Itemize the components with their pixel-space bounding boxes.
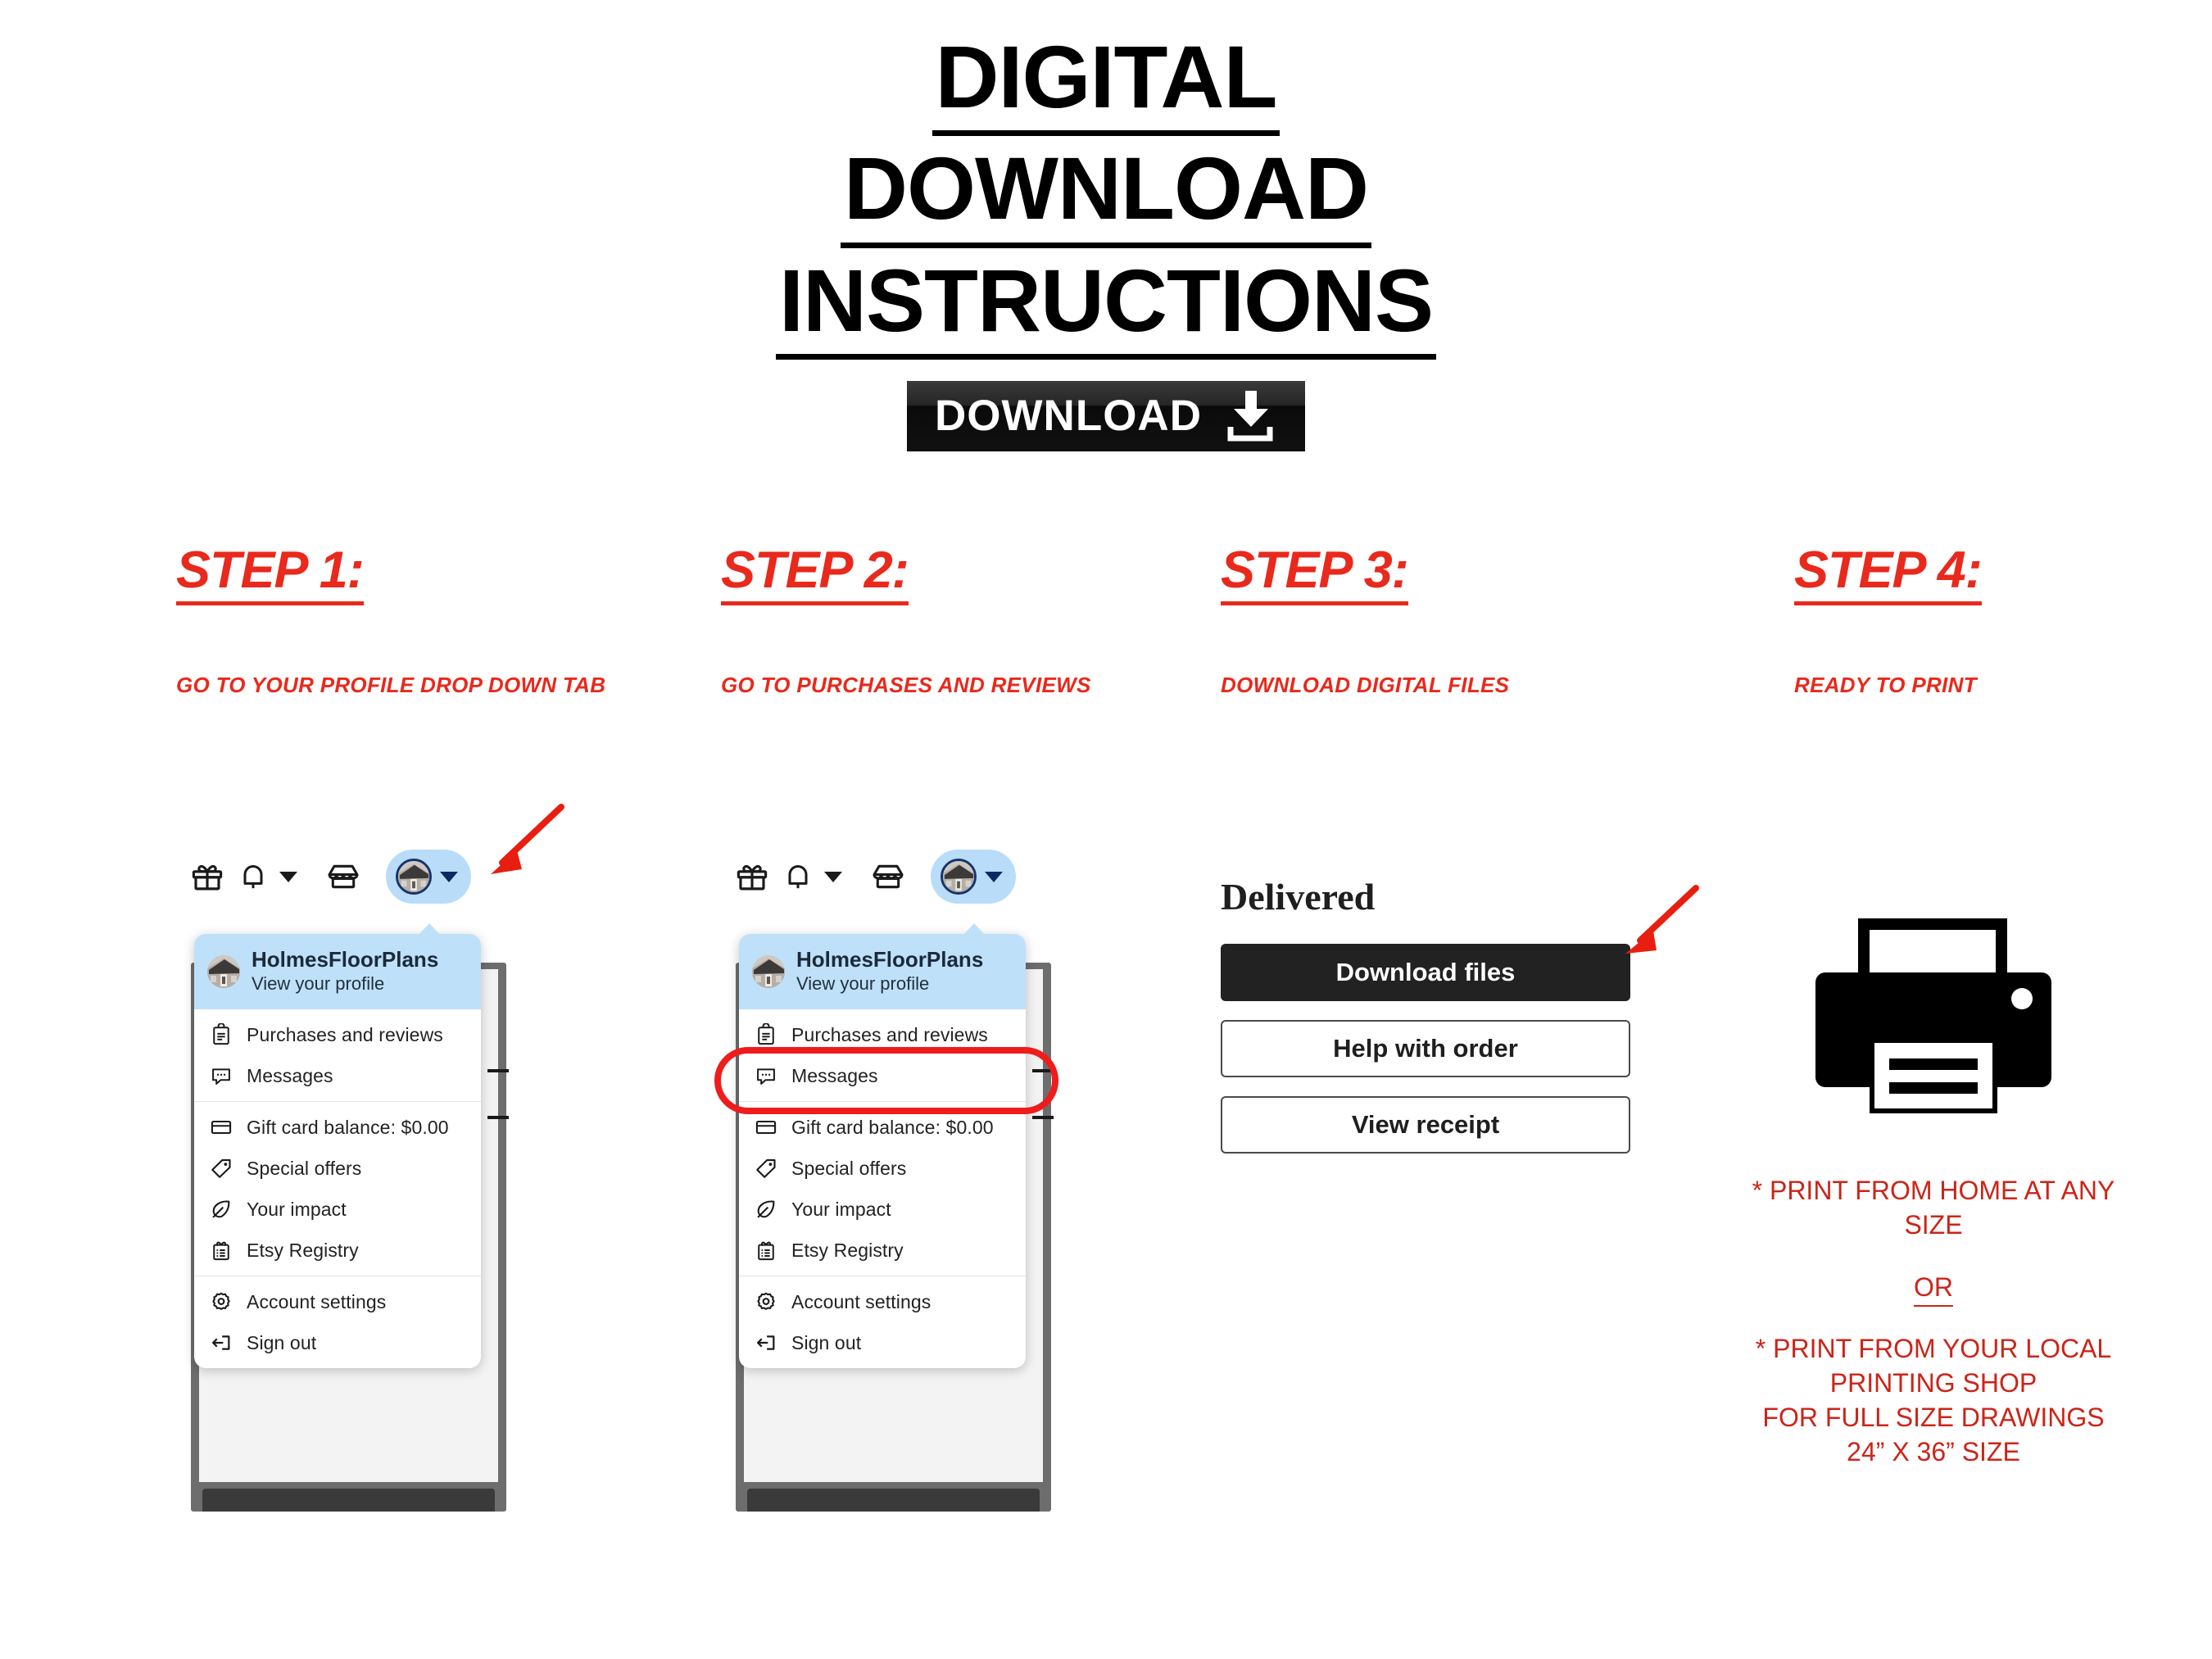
gift-icon[interactable] [184, 854, 230, 900]
dropdown-pointer [962, 923, 986, 936]
print-note-line-2: * PRINT FROM YOUR LOCAL PRINTING SHOP FO… [1737, 1331, 2130, 1470]
gift-icon[interactable] [729, 854, 775, 900]
bell-icon[interactable] [230, 854, 276, 900]
step-3-title: STEP 3: [1221, 541, 1408, 605]
avatar [207, 955, 240, 988]
dropdown-pointer [417, 923, 442, 936]
clipboard-icon [754, 1022, 778, 1047]
view-profile-link[interactable]: View your profile [796, 972, 983, 996]
avatar [752, 955, 785, 988]
title-line-2: DOWNLOAD [841, 136, 1371, 247]
credit-card-icon [209, 1115, 233, 1140]
menu-item-label: Purchases and reviews [791, 1024, 988, 1046]
chevron-down-icon[interactable] [440, 872, 458, 882]
step-3-column: STEP 3: DOWNLOAD DIGITAL FILES [1221, 541, 1509, 698]
page-title: DIGITAL [0, 25, 2212, 136]
menu-group-1: Purchases and reviews Messages [739, 1009, 1026, 1101]
menu-item-label: Purchases and reviews [247, 1024, 443, 1046]
download-files-button[interactable]: Download files [1221, 944, 1630, 1001]
menu-item-special-offers[interactable]: Special offers [739, 1148, 1026, 1189]
menu-account-header[interactable]: HolmesFloorPlans View your profile [194, 934, 481, 1009]
menu-item-account-settings[interactable]: Account settings [739, 1281, 1026, 1322]
etsy-navbar [729, 844, 1057, 909]
menu-item-messages[interactable]: Messages [739, 1055, 1026, 1096]
bell-icon[interactable] [775, 854, 821, 900]
download-badge[interactable]: DOWNLOAD [907, 381, 1305, 451]
step-3-subtitle: DOWNLOAD DIGITAL FILES [1221, 673, 1509, 698]
step-4-column: STEP 4: READY TO PRINT [1794, 541, 1982, 698]
print-note-line-1: * PRINT FROM HOME AT ANY SIZE [1737, 1173, 2130, 1242]
price-tag-icon [754, 1156, 778, 1181]
bg-fragment [487, 1116, 509, 1119]
credit-card-icon [754, 1115, 778, 1140]
print-note-or: OR [1914, 1270, 1953, 1306]
menu-item-your-impact[interactable]: Your impact [194, 1189, 481, 1230]
leaf-icon [754, 1197, 778, 1222]
sign-out-icon [754, 1330, 778, 1355]
chat-bubble-icon [209, 1063, 233, 1088]
menu-item-label: Special offers [247, 1158, 361, 1180]
profile-menu-button[interactable] [386, 850, 471, 904]
chevron-down-icon[interactable] [824, 872, 842, 882]
profile-dropdown-menu: HolmesFloorPlans View your profile Purch… [194, 934, 481, 1368]
title-line-3: INSTRUCTIONS [776, 248, 1436, 360]
account-name: HolmesFloorPlans [796, 948, 983, 972]
leaf-icon [209, 1197, 233, 1222]
menu-item-account-settings[interactable]: Account settings [194, 1281, 481, 1322]
avatar [941, 859, 977, 895]
menu-account-header[interactable]: HolmesFloorPlans View your profile [739, 934, 1026, 1009]
menu-item-your-impact[interactable]: Your impact [739, 1189, 1026, 1230]
step-1-title: STEP 1: [176, 541, 364, 605]
menu-item-label: Etsy Registry [247, 1240, 359, 1262]
step-2-title: STEP 2: [721, 541, 909, 605]
menu-item-special-offers[interactable]: Special offers [194, 1148, 481, 1189]
title-line-1: DIGITAL [932, 25, 1281, 136]
menu-item-etsy-registry[interactable]: Etsy Registry [194, 1230, 481, 1271]
view-receipt-button[interactable]: View receipt [1221, 1096, 1630, 1154]
menu-item-label: Your impact [247, 1199, 347, 1221]
etsy-navbar [184, 844, 512, 909]
view-profile-link[interactable]: View your profile [252, 972, 438, 996]
printer-icon [1811, 913, 2056, 1118]
step-1-subtitle: GO TO YOUR PROFILE DROP DOWN TAB [176, 673, 605, 698]
menu-item-gift-card-balance[interactable]: Gift card balance: $0.00 [194, 1107, 481, 1148]
gear-icon [754, 1290, 778, 1314]
menu-item-sign-out[interactable]: Sign out [739, 1322, 1026, 1363]
account-name: HolmesFloorPlans [252, 948, 438, 972]
menu-group-2: Gift card balance: $0.00 Special offers [194, 1101, 481, 1276]
step-2-screenshot: HolmesFloorPlans View your profile Purch… [729, 844, 1057, 1499]
download-arrow-icon [1220, 389, 1281, 442]
menu-group-2: Gift card balance: $0.00 Special offers [739, 1101, 1026, 1276]
sign-out-icon [209, 1330, 233, 1355]
step-1-screenshot: HolmesFloorPlans View your profile Purch… [184, 844, 512, 1499]
instruction-sheet: DIGITAL DOWNLOAD INSTRUCTIONS DOWNLOAD S… [0, 0, 2212, 1659]
step-4-subtitle: READY TO PRINT [1794, 673, 1982, 698]
menu-item-label: Sign out [247, 1332, 316, 1354]
menu-group-1: Purchases and reviews Messages [194, 1009, 481, 1101]
chevron-down-icon[interactable] [985, 872, 1003, 882]
menu-item-etsy-registry[interactable]: Etsy Registry [739, 1230, 1026, 1271]
bg-fragment [487, 1069, 509, 1072]
menu-item-label: Account settings [791, 1291, 931, 1313]
menu-item-label: Account settings [247, 1291, 386, 1313]
menu-item-gift-card-balance[interactable]: Gift card balance: $0.00 [739, 1107, 1026, 1148]
avatar [396, 859, 432, 895]
step-1-column: STEP 1: GO TO YOUR PROFILE DROP DOWN TAB [176, 541, 605, 698]
menu-item-label: Sign out [791, 1332, 861, 1354]
order-status-label: Delivered [1221, 875, 1375, 918]
registry-gift-icon [754, 1238, 778, 1262]
menu-item-label: Your impact [791, 1199, 891, 1221]
shop-icon[interactable] [865, 854, 911, 900]
menu-group-3: Account settings Sign out [194, 1276, 481, 1368]
page-header: DIGITAL DOWNLOAD INSTRUCTIONS DOWNLOAD [0, 25, 2212, 451]
clipboard-icon [209, 1022, 233, 1047]
chat-bubble-icon [754, 1063, 778, 1088]
profile-dropdown-menu: HolmesFloorPlans View your profile Purch… [739, 934, 1026, 1368]
step-2-column: STEP 2: GO TO PURCHASES AND REVIEWS [721, 541, 1091, 698]
print-notes: * PRINT FROM HOME AT ANY SIZE OR * PRINT… [1737, 1173, 2130, 1470]
menu-item-purchases-and-reviews[interactable]: Purchases and reviews [739, 1014, 1026, 1055]
download-badge-label: DOWNLOAD [935, 391, 1202, 441]
shop-icon[interactable] [320, 854, 366, 900]
bg-fragment [1032, 1069, 1054, 1072]
step-2-subtitle: GO TO PURCHASES AND REVIEWS [721, 673, 1091, 698]
menu-item-label: Gift card balance: $0.00 [247, 1117, 449, 1139]
bg-fragment [1032, 1116, 1054, 1119]
menu-item-label: Messages [791, 1065, 878, 1087]
chevron-down-icon[interactable] [279, 872, 297, 882]
help-with-order-button[interactable]: Help with order [1221, 1020, 1630, 1077]
menu-item-label: Etsy Registry [791, 1240, 904, 1262]
step-4-title: STEP 4: [1794, 541, 1982, 605]
registry-gift-icon [209, 1238, 233, 1262]
menu-item-label: Special offers [791, 1158, 906, 1180]
menu-item-label: Messages [247, 1065, 333, 1087]
step-3-red-arrow-icon [1607, 878, 1706, 977]
gear-icon [209, 1290, 233, 1314]
step-1-red-arrow-icon [471, 799, 569, 897]
menu-item-sign-out[interactable]: Sign out [194, 1322, 481, 1363]
menu-item-purchases-and-reviews[interactable]: Purchases and reviews [194, 1014, 481, 1055]
menu-item-messages[interactable]: Messages [194, 1055, 481, 1096]
price-tag-icon [209, 1156, 233, 1181]
menu-group-3: Account settings Sign out [739, 1276, 1026, 1368]
menu-item-label: Gift card balance: $0.00 [791, 1117, 994, 1139]
profile-menu-button[interactable] [931, 850, 1016, 904]
